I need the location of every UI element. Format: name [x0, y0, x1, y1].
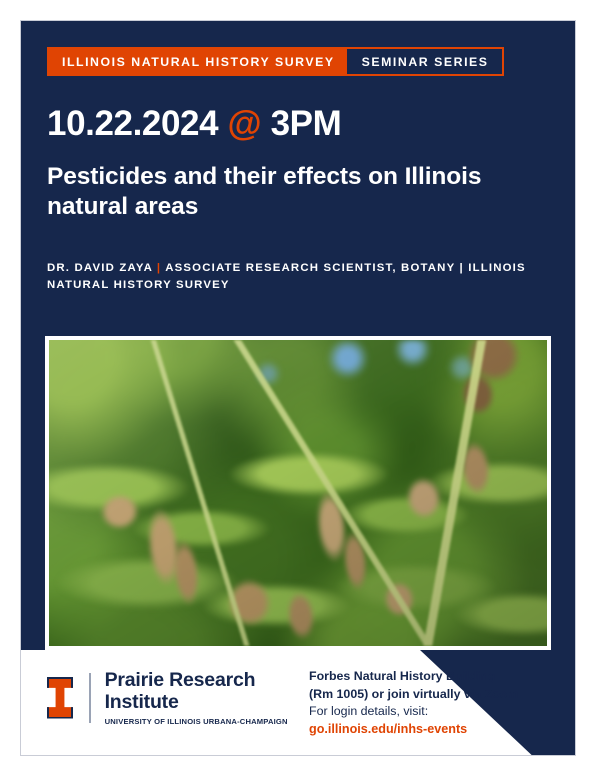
prairie-research-institute-logo: Prairie Research Institute UNIVERSITY OF…	[47, 669, 288, 726]
foliage-photo	[49, 340, 547, 646]
banner-series-label: SEMINAR SERIES	[350, 49, 502, 74]
illinois-block-i-icon	[47, 677, 73, 719]
speaker-name: DR. DAVID ZAYA	[47, 262, 153, 274]
event-location-line-1: Forbes Natural History Building	[309, 668, 518, 686]
photo-lighting-overlay	[49, 340, 547, 646]
event-date: 10.22.2024	[47, 104, 218, 143]
logo-tagline: UNIVERSITY OF ILLINOIS URBANA-CHAMPAIGN	[105, 718, 288, 726]
speaker-credit: DR. DAVID ZAYA | ASSOCIATE RESEARCH SCIE…	[47, 260, 547, 295]
speaker-role: ASSOCIATE RESEARCH SCIENTIST, BOTANY	[165, 262, 455, 274]
banner-organization-label: ILLINOIS NATURAL HISTORY SURVEY	[49, 49, 347, 74]
logo-divider	[89, 673, 91, 723]
event-login-note: For login details, visit:	[309, 703, 518, 721]
logo-name-line-2: Institute	[105, 691, 288, 713]
poster-footer: Prairie Research Institute UNIVERSITY OF…	[21, 650, 575, 755]
seminar-poster: ILLINOIS NATURAL HISTORY SURVEY SEMINAR …	[21, 21, 575, 755]
photo-frame	[45, 336, 551, 650]
event-link[interactable]: go.illinois.edu/inhs-events	[309, 721, 518, 739]
event-time: 3PM	[271, 104, 342, 143]
speaker-separator-2: |	[460, 262, 464, 274]
logo-wordmark: Prairie Research Institute UNIVERSITY OF…	[105, 669, 288, 726]
speaker-separator-1: |	[157, 262, 161, 274]
at-symbol: @	[228, 104, 262, 143]
talk-title: Pesticides and their effects on Illinois…	[47, 162, 527, 222]
event-location-line-2: (Rm 1005) or join virtually via Zoom	[309, 686, 518, 704]
logo-name-line-1: Prairie Research	[105, 669, 288, 691]
event-datetime: 10.22.2024 @ 3PM	[47, 106, 341, 141]
series-banner: ILLINOIS NATURAL HISTORY SURVEY SEMINAR …	[47, 47, 504, 76]
event-details: Forbes Natural History Building (Rm 1005…	[309, 668, 518, 739]
